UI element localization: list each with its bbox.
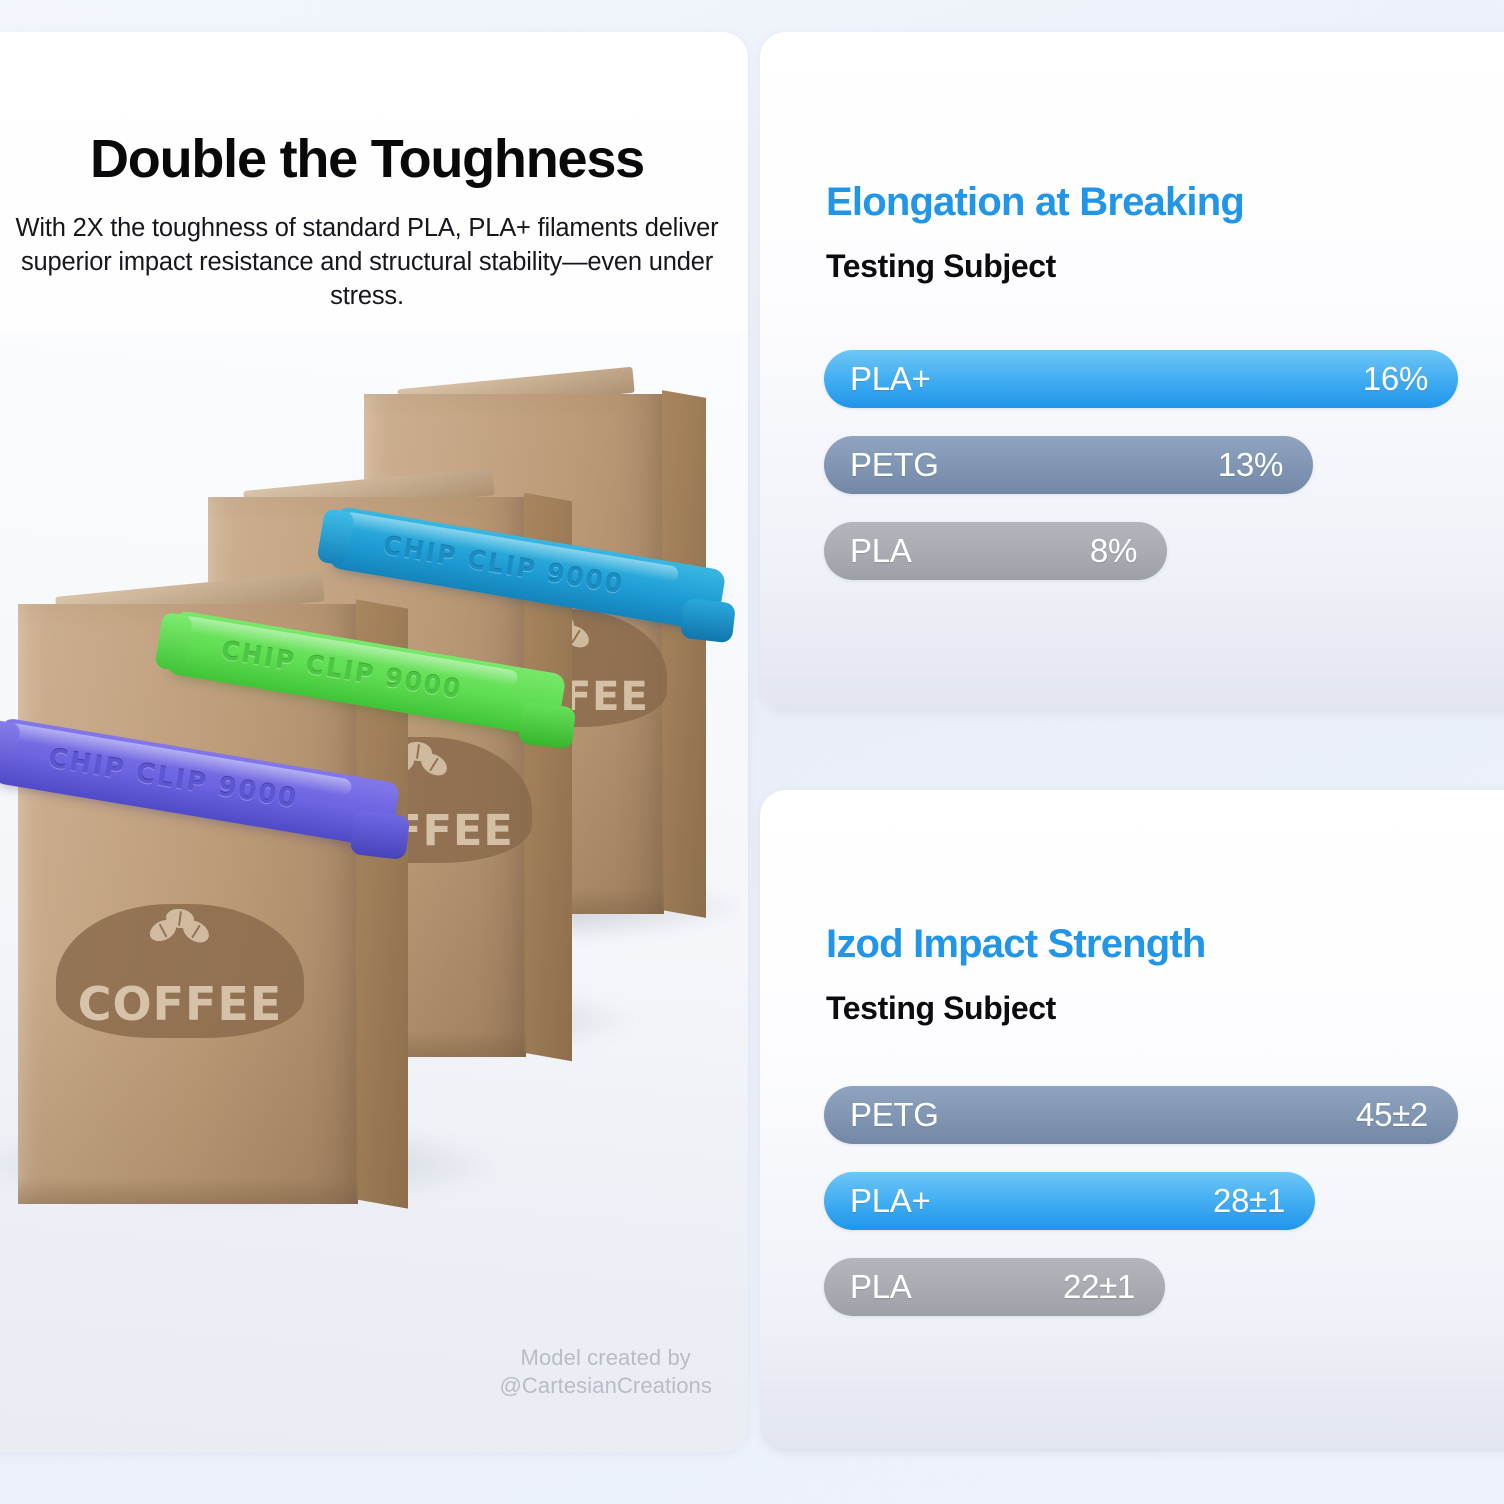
infographic-canvas: Double the Toughness With 2X the toughne… [0,0,1504,1504]
clip-lip [518,702,576,750]
chart-2-bars: PETG 45±2 PLA+ 28±1 PLA 22±1 [824,1086,1504,1344]
bar-value: 22±1 [1063,1268,1135,1306]
bag-gusset [662,390,706,918]
clip-lip [680,598,736,644]
bar-value: 28±1 [1213,1182,1285,1220]
bar-petg: PETG 13% [824,436,1313,494]
elongation-chart-panel: Elongation at Breaking Testing Subject P… [760,32,1504,712]
bar-value: 13% [1218,446,1283,484]
attribution: Model created by @CartesianCreations [499,1344,712,1400]
page-title: Double the Toughness [0,128,748,190]
coffee-logo-text: COFFEE [78,977,283,1031]
coffee-logo-front: COFFEE [56,904,304,1038]
bar-label: PLA+ [850,1182,930,1220]
izod-chart-panel: Izod Impact Strength Testing Subject PET… [760,790,1504,1452]
bar-pla: PLA 22±1 [824,1258,1165,1316]
bar-label: PLA [850,532,911,570]
chart-2-subtitle: Testing Subject [826,990,1056,1027]
chart-2-title: Izod Impact Strength [826,922,1206,967]
bar-pla-plus: PLA+ 28±1 [824,1172,1315,1230]
clip-lip [350,810,411,860]
bar-label: PLA [850,1268,911,1306]
chart-1-title: Elongation at Breaking [826,180,1244,225]
product-panel: Double the Toughness With 2X the toughne… [0,32,748,1452]
bar-label: PETG [850,1096,939,1134]
bar-pla-plus: PLA+ 16% [824,350,1458,408]
bar-row: PLA+ 28±1 [824,1172,1504,1230]
bar-value: 16% [1363,360,1428,398]
product-photo: COFFEE COFFEE [0,332,748,1452]
bar-label: PETG [850,446,939,484]
chart-1-bars: PLA+ 16% PETG 13% PLA 8% [824,350,1504,608]
bar-row: PETG 45±2 [824,1086,1504,1144]
bar-row: PLA 8% [824,522,1504,580]
bar-row: PLA 22±1 [824,1258,1504,1316]
bar-value: 8% [1090,532,1137,570]
bar-petg: PETG 45±2 [824,1086,1458,1144]
bar-value: 45±2 [1356,1096,1428,1134]
page-subtitle: With 2X the toughness of standard PLA, P… [14,212,720,314]
attribution-line-2: @CartesianCreations [499,1372,712,1400]
bag-bottom-fold [18,1178,358,1204]
bar-pla: PLA 8% [824,522,1167,580]
bar-row: PLA+ 16% [824,350,1504,408]
chart-1-subtitle: Testing Subject [826,248,1056,285]
bar-label: PLA+ [850,360,930,398]
attribution-line-1: Model created by [499,1344,712,1372]
bar-row: PETG 13% [824,436,1504,494]
coffee-bean-icon [149,909,211,949]
